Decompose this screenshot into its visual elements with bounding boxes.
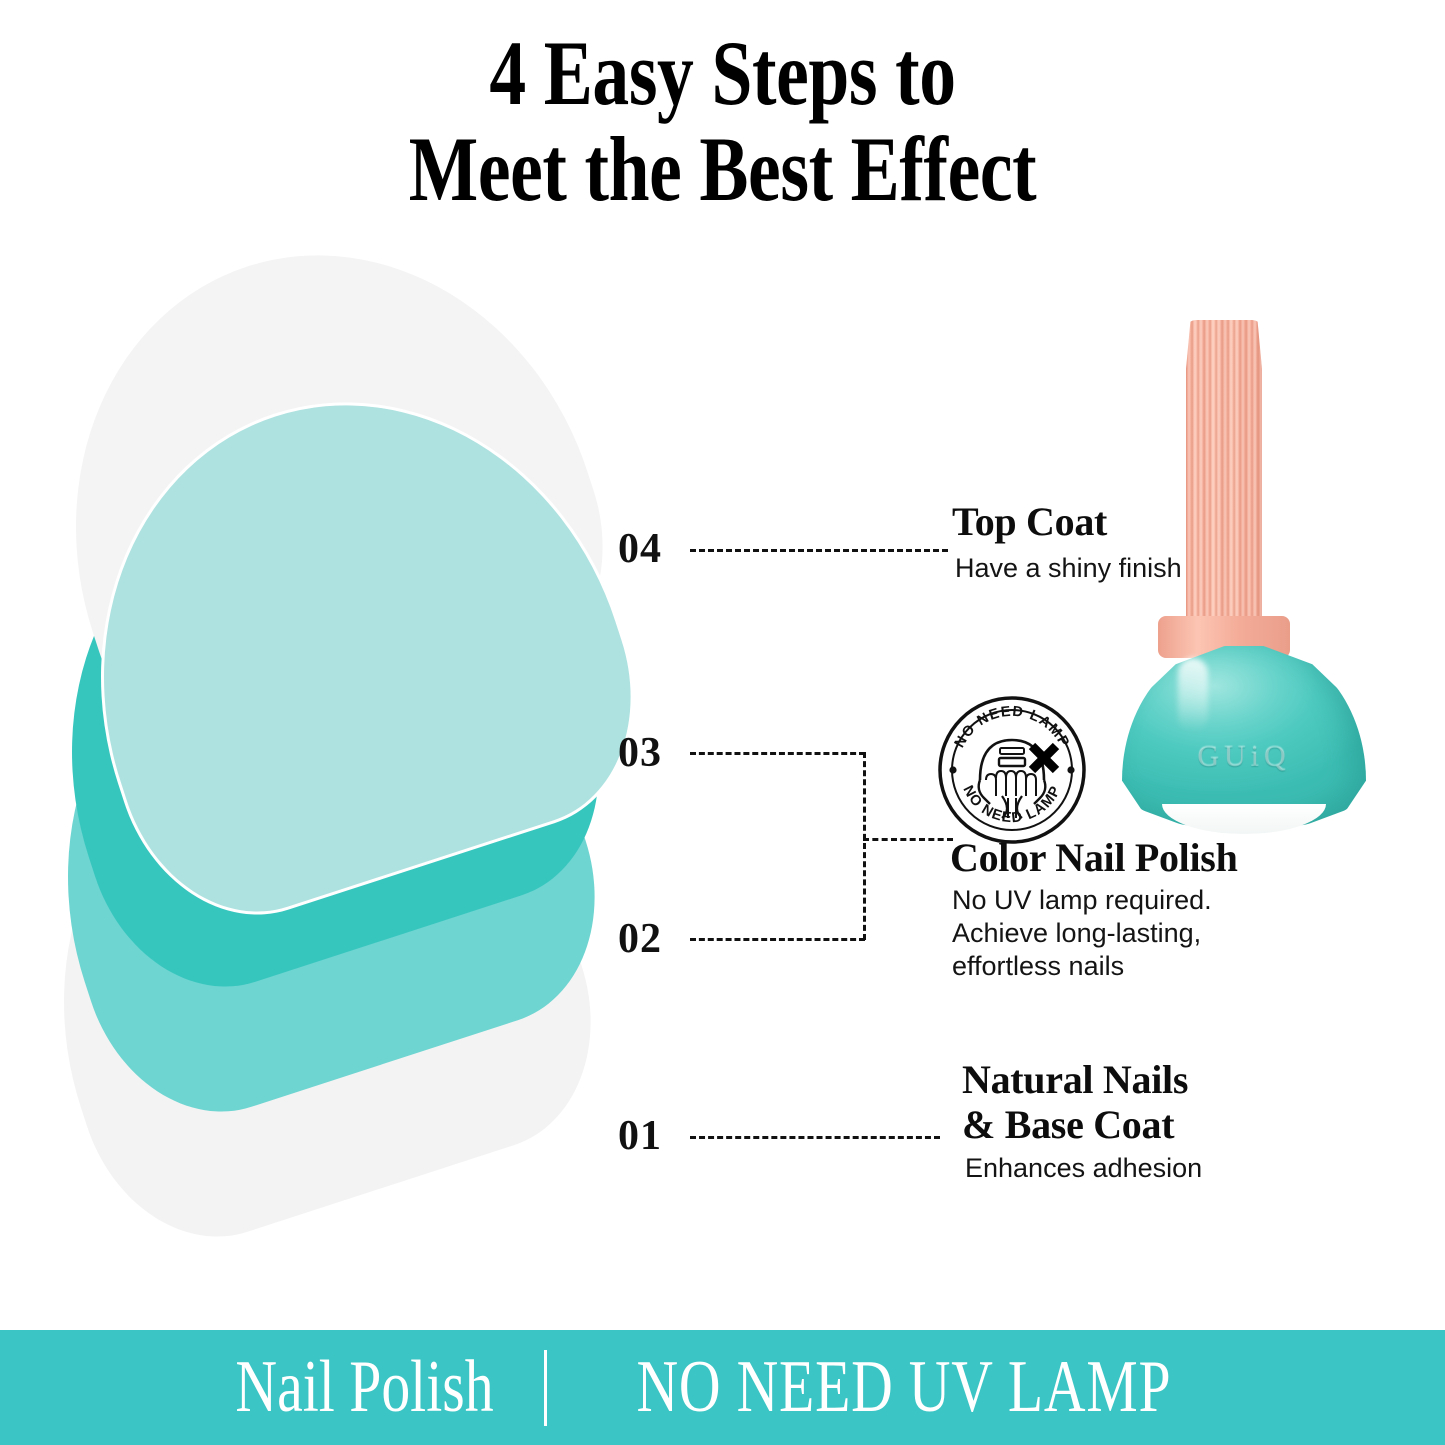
step-heading-04: Top Coat <box>952 500 1107 545</box>
leader-line-02-horizontal <box>690 938 865 941</box>
bottle-highlight <box>1178 658 1208 732</box>
title-line-1: 4 Easy Steps to <box>489 22 955 124</box>
step-description-01: Enhances adhesion <box>965 1152 1202 1185</box>
leader-line-04 <box>690 549 948 552</box>
bottle-embossed-label: GUiQ <box>1122 740 1366 774</box>
leader-line-bracket-vertical <box>863 752 866 940</box>
step-number-01: 01 <box>618 1112 662 1160</box>
banner-right-text: NO NEED UV LAMP <box>636 1345 1171 1430</box>
banner-left-text: Nail Polish <box>235 1345 493 1430</box>
badge-text-bottom: NO NEED LAMP <box>959 783 1064 826</box>
step-description-03: No UV lamp required. Achieve long-lastin… <box>952 884 1212 983</box>
bottom-banner: Nail Polish NO NEED UV LAMP <box>0 1330 1445 1445</box>
leader-line-03-horizontal <box>690 752 865 755</box>
bottle-cap-ribs <box>1186 320 1262 630</box>
infographic-canvas: 4 Easy Steps to Meet the Best Effect 04 … <box>0 0 1445 1445</box>
step-number-04: 04 <box>618 525 662 573</box>
no-need-lamp-badge: NO NEED LAMP NO NEED LAMP <box>936 694 1088 846</box>
step-number-02: 02 <box>618 915 662 963</box>
bottle-body <box>1122 646 1366 828</box>
leader-line-01 <box>690 1136 940 1139</box>
step-heading-03: Color Nail Polish <box>950 836 1238 881</box>
nail-layer-stack <box>0 200 880 1300</box>
bottle-base <box>1162 804 1326 834</box>
svg-text:NO NEED LAMP: NO NEED LAMP <box>959 783 1064 826</box>
page-title: 4 Easy Steps to Meet the Best Effect <box>145 26 1301 217</box>
step-number-03: 03 <box>618 729 662 777</box>
step-heading-01: Natural Nails & Base Coat <box>962 1058 1188 1148</box>
nail-polish-bottle: GUiQ <box>1100 320 1390 840</box>
banner-divider <box>544 1350 547 1426</box>
